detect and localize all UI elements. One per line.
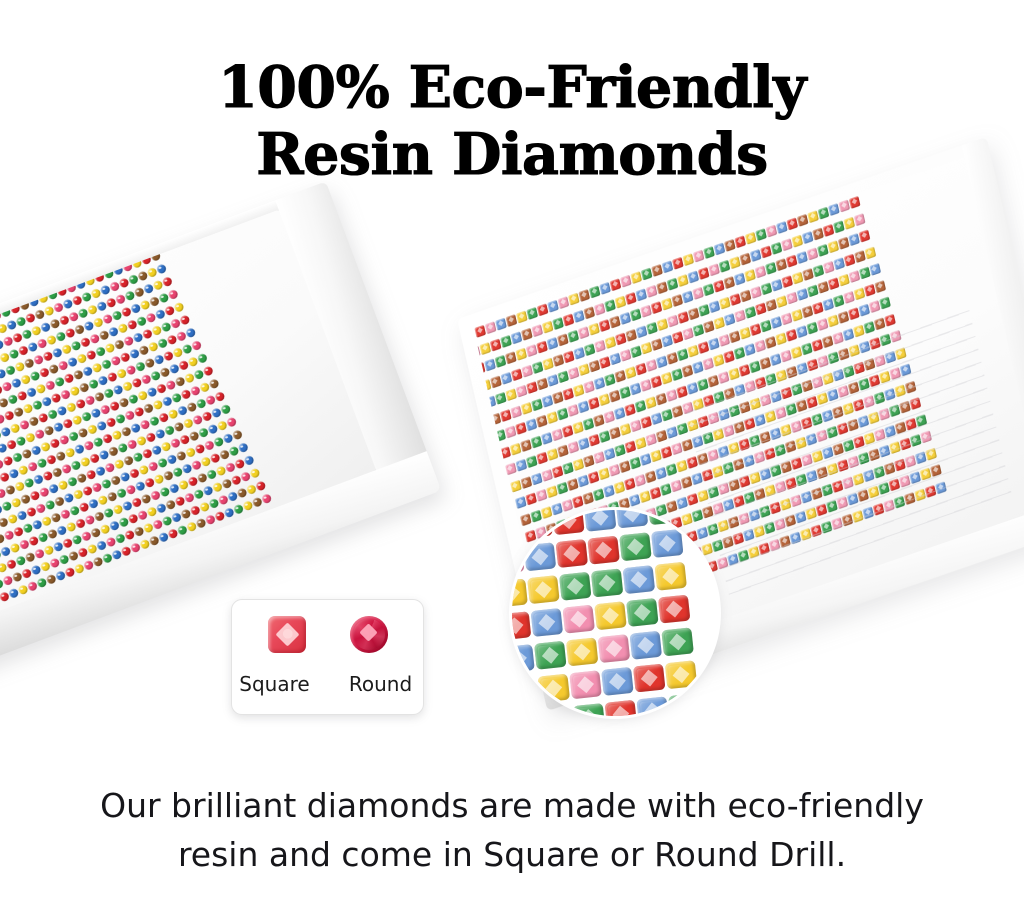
magnified-drill-bead — [616, 510, 649, 528]
drill-bead — [208, 378, 220, 390]
drill-bead — [677, 311, 689, 324]
drill-bead — [552, 354, 564, 367]
drill-bead — [220, 404, 232, 416]
drill-bead — [822, 372, 834, 385]
drill-bead — [661, 409, 673, 422]
drill-bead — [890, 330, 902, 343]
drill-bead — [526, 381, 538, 394]
drill-bead — [179, 314, 191, 326]
drill-bead — [837, 459, 849, 472]
drill-bead — [671, 405, 683, 418]
drill-bead — [859, 229, 871, 242]
drill-bead — [739, 289, 751, 302]
drill-bead — [833, 257, 845, 270]
drill-bead — [515, 459, 527, 472]
drill-bead — [858, 341, 870, 354]
drill-bead — [811, 449, 823, 462]
drill-bead — [686, 492, 698, 505]
drill-bead — [191, 340, 203, 352]
drill-bead — [573, 346, 585, 359]
drill-bead — [806, 359, 818, 372]
drill-bead — [925, 447, 937, 460]
drill-bead — [255, 480, 267, 492]
drill-bead — [243, 455, 255, 467]
drill-bead — [578, 363, 590, 376]
drill-bead — [588, 434, 600, 447]
drill-bead — [490, 375, 502, 388]
drill-bead — [226, 416, 238, 428]
page-caption-line-2: resin and come in Square or Round Drill. — [0, 831, 1024, 880]
drill-bead — [666, 425, 678, 438]
drill-bead — [619, 423, 631, 436]
drill-bead — [594, 339, 606, 352]
drill-bead — [900, 363, 912, 376]
drill-bead — [599, 356, 611, 369]
magnified-drill-bead — [648, 510, 681, 525]
drill-bead — [734, 309, 746, 322]
drill-bead — [905, 380, 917, 393]
drill-bead — [640, 416, 652, 429]
magnified-drill-bead — [552, 510, 585, 535]
drill-bead — [843, 253, 855, 266]
product-marketing-image: 100% Eco-Friendly Resin Diamonds Square … — [0, 0, 1024, 922]
drill-bead — [775, 369, 787, 382]
magnified-drill-bead — [512, 513, 521, 542]
drill-bead — [864, 246, 876, 259]
drill-bead — [770, 390, 782, 403]
drill-bead — [786, 292, 798, 305]
drill-bead — [202, 365, 214, 377]
drill-bead — [728, 478, 740, 491]
magnified-drill-bead — [534, 641, 567, 670]
drill-bead — [760, 282, 772, 295]
drill-bead — [795, 473, 807, 486]
drill-bead — [733, 495, 745, 508]
drill-bead — [884, 350, 896, 363]
drill-bead — [930, 464, 942, 477]
magnified-drill-bead — [569, 670, 602, 699]
drill-bead — [521, 364, 533, 377]
drill-bead — [572, 458, 584, 471]
drill-bead — [828, 277, 840, 290]
drill-bead — [546, 448, 558, 461]
drill-bead — [899, 438, 911, 451]
drill-bead — [879, 296, 891, 309]
drill-bead — [827, 351, 839, 364]
magnified-drill-bead — [512, 710, 542, 716]
magnified-drill-bead — [619, 532, 652, 561]
drill-bead — [645, 433, 657, 446]
drill-bead — [884, 313, 896, 326]
drill-bead — [640, 342, 652, 355]
drill-bead — [780, 460, 792, 473]
drill-bead — [765, 373, 777, 386]
drill-bead — [531, 472, 543, 485]
drill-bead — [802, 268, 814, 281]
magnified-drill-bead — [537, 674, 570, 703]
drill-bead — [583, 343, 595, 356]
magnified-drill-bead — [651, 529, 684, 558]
drill-bead — [744, 380, 756, 393]
drill-bead — [791, 382, 803, 395]
drill-bead — [505, 388, 517, 401]
drill-bead — [666, 314, 678, 327]
drill-bead — [578, 437, 590, 450]
drill-bead — [905, 417, 917, 430]
drill-bead — [868, 448, 880, 461]
drill-bead — [807, 284, 819, 297]
drill-bead — [541, 468, 553, 481]
magnified-drill-bead — [524, 542, 557, 571]
drill-bead — [703, 320, 715, 333]
magnified-drill-bead — [630, 631, 663, 660]
drill-bead — [510, 479, 522, 492]
drill-bead — [790, 457, 802, 470]
drill-bead — [869, 337, 881, 350]
magnified-drill-bead — [566, 637, 599, 666]
drill-bead — [734, 384, 746, 397]
drill-bead — [765, 299, 777, 312]
drill-bead — [801, 379, 813, 392]
drill-bead — [781, 275, 793, 288]
magnified-drill-bead — [654, 562, 687, 591]
drill-bead — [232, 429, 244, 441]
drill-bead — [682, 402, 694, 415]
magnified-drill-bead — [512, 644, 535, 673]
drill-bead — [603, 447, 615, 460]
page-title: 100% Eco-Friendly Resin Diamonds — [0, 54, 1024, 189]
drill-bead — [614, 443, 626, 456]
legend-swatches — [232, 616, 423, 653]
drill-bead — [889, 441, 901, 454]
drill-bead — [620, 349, 632, 362]
drill-bead — [920, 430, 932, 443]
drill-bead — [878, 445, 890, 458]
drill-bead — [722, 498, 734, 511]
magnified-drill-bead — [661, 627, 694, 656]
drill-bead — [759, 393, 771, 406]
page-title-line-2: Resin Diamonds — [0, 121, 1024, 188]
drill-bead — [655, 429, 667, 442]
drill-bead — [214, 391, 226, 403]
drill-bead — [848, 270, 860, 283]
drill-bead — [796, 362, 808, 375]
drill-bead — [806, 470, 818, 483]
drill-bead — [910, 397, 922, 410]
drill-bead — [879, 333, 891, 346]
drill-bead — [557, 370, 569, 383]
magnified-drill-bead — [598, 634, 631, 663]
drill-bead — [197, 353, 209, 365]
drill-bead — [536, 377, 548, 390]
magnified-drill-bead — [605, 700, 638, 716]
drill-bead — [729, 293, 741, 306]
drill-bead — [786, 366, 798, 379]
drill-bead — [848, 344, 860, 357]
magnified-drill-bead — [633, 664, 666, 693]
drill-bead — [858, 452, 870, 465]
magnified-drill-bead — [573, 703, 606, 716]
magnified-drill-bead — [562, 605, 595, 634]
drill-bead — [650, 412, 662, 425]
magnified-drill-bead — [531, 608, 564, 637]
drill-bead — [562, 350, 574, 363]
drill-bead — [821, 446, 833, 459]
drill-bead — [723, 387, 735, 400]
drill-bead — [567, 441, 579, 454]
drill-bead — [692, 398, 704, 411]
drill-bead — [167, 289, 179, 301]
drill-bead — [817, 281, 829, 294]
drill-bead — [593, 451, 605, 464]
drill-bead — [759, 467, 771, 480]
drill-bead — [854, 213, 866, 226]
magnified-drill-bead — [636, 696, 669, 716]
drill-bead — [516, 385, 528, 398]
drill-bead — [713, 317, 725, 330]
drill-bead — [910, 434, 922, 447]
drill-bead — [859, 266, 871, 279]
magnified-drill-bead — [626, 598, 659, 627]
drill-bead — [505, 462, 517, 475]
magnified-drill-bead — [591, 568, 624, 597]
drill-bead — [609, 427, 621, 440]
drill-bead — [717, 482, 729, 495]
drill-bead — [698, 303, 710, 316]
drill-bead — [707, 485, 719, 498]
drill-bead — [687, 307, 699, 320]
drill-bead — [853, 361, 865, 374]
magnified-drill-bead — [512, 578, 528, 607]
drill-bead — [630, 345, 642, 358]
drill-bead — [816, 466, 828, 479]
magnified-drill-bead — [556, 539, 589, 568]
drill-bead — [895, 347, 907, 360]
drill-bead — [542, 357, 554, 370]
drill-bead — [646, 321, 658, 334]
drill-bead — [697, 415, 709, 428]
drill-bead — [156, 263, 168, 275]
drill-bead — [682, 327, 694, 340]
drill-bead — [536, 452, 548, 465]
drill-bead — [635, 436, 647, 449]
drill-bead — [604, 336, 616, 349]
legend-labels: Square Round — [232, 672, 423, 696]
drill-bead — [547, 374, 559, 387]
drill-bead — [874, 280, 886, 293]
drill-bead — [838, 274, 850, 287]
drill-bead — [769, 464, 781, 477]
drill-bead — [718, 296, 730, 309]
magnified-drill-bead — [541, 706, 574, 716]
drill-bead — [822, 260, 834, 273]
drill-bead — [728, 404, 740, 417]
drill-bead — [656, 318, 668, 331]
drill-bead — [863, 432, 875, 445]
drill-bead — [749, 471, 761, 484]
drill-bead — [598, 430, 610, 443]
drill-bead — [849, 196, 861, 209]
magnified-drill-bead — [584, 510, 617, 532]
drill-bead — [832, 368, 844, 381]
drill-bead — [713, 391, 725, 404]
round-drill-gem-icon — [350, 616, 388, 653]
drill-bead — [173, 301, 185, 313]
drill-bead — [774, 481, 786, 494]
drill-bead — [562, 461, 574, 474]
drill-bead — [854, 250, 866, 263]
drill-bead — [687, 418, 699, 431]
drill-bead — [630, 419, 642, 432]
magnified-drill-bead — [665, 660, 698, 689]
page-caption-line-1: Our brilliant diamonds are made with eco… — [0, 782, 1024, 831]
drill-bead — [853, 435, 865, 448]
drill-bead — [614, 332, 626, 345]
drill-bead — [801, 453, 813, 466]
drill-bead — [624, 440, 636, 453]
drill-bead — [869, 263, 881, 276]
magnified-drill-bead — [668, 693, 701, 716]
drill-bead — [915, 414, 927, 427]
drill-type-legend-card: Square Round — [231, 599, 424, 715]
drill-bead — [526, 455, 538, 468]
drill-bead — [697, 489, 709, 502]
drill-bead — [237, 442, 249, 454]
drill-bead — [661, 335, 673, 348]
drill-bead — [863, 357, 875, 370]
drill-bead — [744, 306, 756, 319]
magnified-drill-bead — [527, 575, 560, 604]
drill-bead — [702, 394, 714, 407]
magnified-drill-bead — [658, 595, 691, 624]
drill-bead — [531, 361, 543, 374]
page-title-line-1: 100% Eco-Friendly — [0, 54, 1024, 121]
drill-bead — [672, 331, 684, 344]
drill-bead — [495, 392, 507, 405]
magnified-square-drill-rows — [512, 510, 718, 716]
page-caption: Our brilliant diamonds are made with eco… — [0, 782, 1024, 880]
drill-bead — [754, 376, 766, 389]
magnifier-closeup-circle — [512, 510, 718, 716]
drill-bead — [185, 327, 197, 339]
drill-bead — [557, 444, 569, 457]
drill-bead — [791, 271, 803, 284]
drill-bead — [162, 276, 174, 288]
drill-bead — [749, 397, 761, 410]
drill-bead — [776, 295, 788, 308]
drill-bead — [724, 313, 736, 326]
magnified-drill-bead — [623, 565, 656, 594]
drill-bead — [838, 348, 850, 361]
drill-bead — [520, 476, 532, 489]
drill-bead — [651, 338, 663, 351]
drill-bead — [884, 424, 896, 437]
drill-bead — [785, 477, 797, 490]
magnified-drill-bead — [587, 536, 620, 565]
drill-bead — [764, 484, 776, 497]
drill-bead — [935, 481, 947, 494]
drill-bead — [568, 367, 580, 380]
drill-bead — [261, 493, 273, 505]
magnified-drill-bead — [559, 572, 592, 601]
magnified-drill-bead — [512, 611, 531, 640]
magnified-drill-bead — [594, 601, 627, 630]
drill-bead — [635, 325, 647, 338]
drill-bead — [743, 491, 755, 504]
drill-bead — [609, 352, 621, 365]
drill-bead — [873, 428, 885, 441]
drill-bead — [750, 286, 762, 299]
drill-bead — [718, 408, 730, 421]
drill-bead — [817, 355, 829, 368]
drill-bead — [676, 496, 688, 509]
drill-bead — [843, 365, 855, 378]
drill-bead — [588, 360, 600, 373]
drill-bead — [739, 400, 751, 413]
drill-bead — [796, 288, 808, 301]
drill-bead — [510, 368, 522, 381]
drill-bead — [811, 375, 823, 388]
drill-bead — [780, 386, 792, 399]
drill-bead — [249, 467, 261, 479]
magnified-drill-bead — [512, 677, 538, 706]
drill-bead — [894, 421, 906, 434]
magnified-drill-bead — [520, 510, 553, 538]
drill-bead — [832, 442, 844, 455]
drill-bead — [500, 371, 512, 384]
square-drill-gem-icon — [268, 616, 306, 653]
drill-bead — [812, 264, 824, 277]
drill-bead — [707, 411, 719, 424]
drill-bead — [583, 454, 595, 467]
drill-bead — [738, 475, 750, 488]
legend-label-round: Round — [342, 672, 420, 696]
drill-bead — [847, 455, 859, 468]
drill-bead — [842, 439, 854, 452]
drill-bead — [676, 422, 688, 435]
legend-label-square: Square — [236, 672, 314, 696]
magnified-drill-bead — [512, 546, 524, 575]
drill-bead — [625, 328, 637, 341]
drill-bead — [551, 465, 563, 478]
magnified-drill-bead — [601, 667, 634, 696]
drill-bead — [708, 300, 720, 313]
drill-bead — [874, 354, 886, 367]
drill-bead — [692, 324, 704, 337]
drill-bead — [755, 302, 767, 315]
drill-bead — [826, 463, 838, 476]
drill-bead — [754, 488, 766, 501]
drill-bead — [770, 278, 782, 291]
